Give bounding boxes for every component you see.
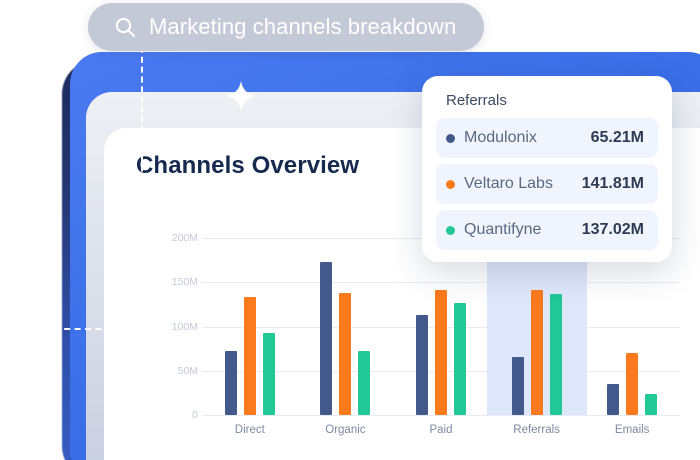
bar[interactable]	[339, 293, 351, 415]
bar[interactable]	[225, 351, 237, 415]
selection-marquee[interactable]	[33, 27, 143, 330]
y-gridline	[202, 282, 680, 283]
y-gridline	[202, 415, 680, 416]
tooltip-series-name: Quantifyne	[455, 221, 582, 239]
search-bar[interactable]: Marketing channels breakdown	[88, 3, 484, 51]
bar[interactable]	[512, 357, 524, 415]
series-color-dot-icon	[446, 226, 455, 235]
series-color-dot-icon	[446, 134, 455, 143]
bar[interactable]	[454, 303, 466, 415]
y-axis-tick-label: 150M	[138, 276, 198, 288]
search-input[interactable]: Marketing channels breakdown	[149, 14, 456, 40]
x-axis-tick-label: Direct	[235, 424, 265, 436]
bar[interactable]	[358, 351, 370, 415]
x-axis-tick-label: Paid	[429, 424, 452, 436]
x-axis-labels: DirectOrganicPaidReferralsEmails	[168, 424, 680, 444]
bar[interactable]	[626, 353, 638, 415]
bar[interactable]	[607, 384, 619, 415]
bar[interactable]	[550, 294, 562, 415]
series-color-dot-icon	[446, 180, 455, 189]
bar[interactable]	[645, 394, 657, 415]
tooltip-series-name: Modulonix	[455, 129, 591, 147]
screenshot-root: Channels Overview 050M100M150M200M Direc…	[0, 0, 700, 460]
tooltip-series-name: Veltaro Labs	[455, 175, 582, 193]
bar[interactable]	[320, 262, 332, 415]
bar[interactable]	[531, 290, 543, 416]
tooltip-title: Referrals	[436, 90, 658, 118]
bar[interactable]	[244, 297, 256, 415]
chart-tooltip: Referrals Modulonix65.21MVeltaro Labs141…	[422, 76, 672, 262]
tooltip-series-value: 65.21M	[591, 129, 644, 147]
x-axis-tick-label: Referrals	[513, 424, 560, 436]
y-axis-tick-label: 50M	[138, 365, 198, 377]
tooltip-series-value: 137.02M	[582, 221, 644, 239]
y-axis-tick-label: 200M	[138, 232, 198, 244]
tooltip-series-value: 141.81M	[582, 175, 644, 193]
bar[interactable]	[263, 333, 275, 415]
tooltip-rows: Modulonix65.21MVeltaro Labs141.81MQuanti…	[436, 118, 658, 250]
bar-chart-plot: 050M100M150M200M	[168, 238, 680, 416]
page-title: Channels Overview	[136, 152, 359, 180]
bar[interactable]	[416, 315, 428, 415]
y-axis-tick-label: 0	[138, 409, 198, 421]
tooltip-row: Quantifyne137.02M	[436, 210, 658, 250]
search-icon	[114, 16, 136, 38]
tooltip-row: Modulonix65.21M	[436, 118, 658, 158]
tooltip-row: Veltaro Labs141.81M	[436, 164, 658, 204]
y-axis-tick-label: 100M	[138, 321, 198, 333]
x-axis-tick-label: Emails	[615, 424, 650, 436]
x-axis-tick-label: Organic	[325, 424, 365, 436]
sparkle-icon	[226, 81, 256, 111]
bar[interactable]	[435, 290, 447, 415]
